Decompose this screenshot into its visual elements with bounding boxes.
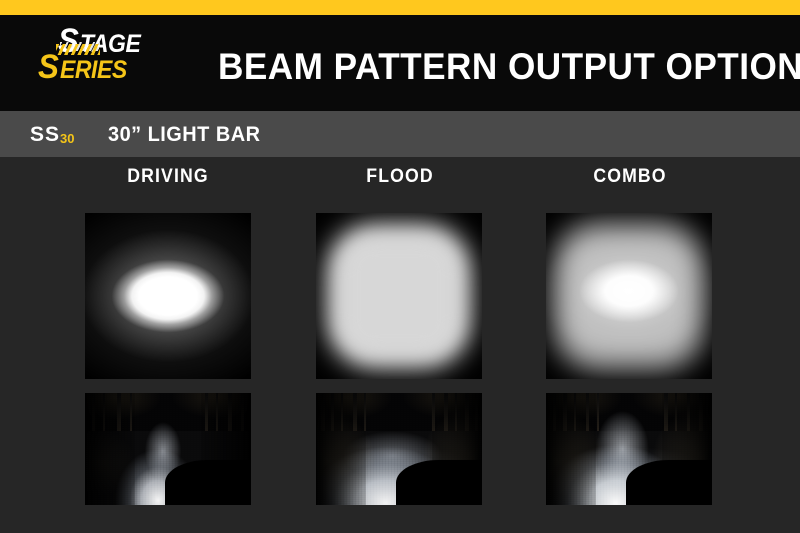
model-badge-size: 30 bbox=[60, 131, 74, 146]
flood-beam-pattern bbox=[316, 213, 482, 379]
flood-night-road-photo bbox=[316, 393, 482, 505]
combo-night-road-photo bbox=[546, 393, 712, 505]
column-header-driving: DRIVING bbox=[52, 167, 285, 186]
page-title: BEAM PATTERN OUTPUT OPTIONS bbox=[218, 48, 800, 85]
top-accent-rule bbox=[0, 0, 800, 15]
combo-beam-pattern bbox=[546, 213, 712, 379]
driving-night-road-photo bbox=[85, 393, 251, 505]
photo-grain bbox=[316, 393, 482, 505]
driving-beam-pattern bbox=[85, 213, 251, 379]
logo-series-initial: S bbox=[38, 50, 58, 84]
photo-grain bbox=[546, 393, 712, 505]
column-driving: DRIVING bbox=[43, 167, 293, 186]
column-header-flood: FLOOD bbox=[284, 167, 517, 186]
column-combo: COMBO bbox=[505, 167, 755, 186]
model-badge-text: SS bbox=[30, 123, 60, 146]
combo-beam-glow bbox=[546, 213, 712, 379]
logo-series-rest: ERIES bbox=[60, 58, 127, 83]
driving-beam-glow bbox=[85, 213, 251, 379]
column-header-combo: COMBO bbox=[514, 167, 747, 186]
logo-series-word: SERIES bbox=[38, 50, 133, 84]
product-name: 30” LIGHT BAR bbox=[108, 124, 260, 145]
flood-beam-glow bbox=[316, 213, 482, 379]
stage-series-logo: STAGE SERIES bbox=[30, 22, 200, 90]
photo-grain bbox=[85, 393, 251, 505]
column-flood: FLOOD bbox=[275, 167, 525, 186]
model-badge: SS30 bbox=[30, 124, 74, 145]
